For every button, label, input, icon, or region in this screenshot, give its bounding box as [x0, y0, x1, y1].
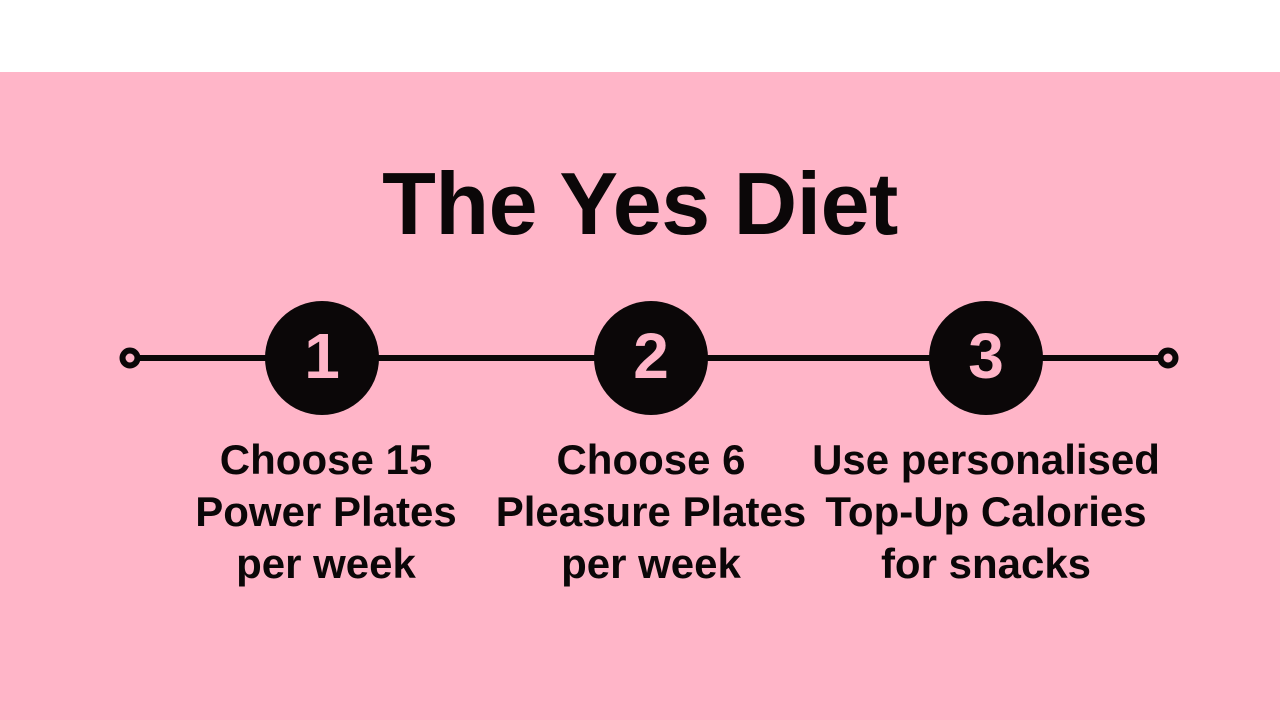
- page-title: The Yes Diet: [0, 160, 1280, 248]
- timeline-node-2[interactable]: 2: [594, 301, 708, 415]
- timeline-caption-2: Choose 6 Pleasure Plates per week: [481, 434, 821, 590]
- timeline-node-number: 3: [968, 324, 1004, 388]
- slide: The Yes Diet 1 2 3 Choose 15 Power Plate…: [0, 0, 1280, 720]
- timeline-node-3[interactable]: 3: [929, 301, 1043, 415]
- timeline-node-number: 1: [304, 324, 340, 388]
- timeline-caption-1: Choose 15 Power Plates per week: [156, 434, 496, 590]
- timeline-node-number: 2: [633, 324, 669, 388]
- timeline-node-1[interactable]: 1: [265, 301, 379, 415]
- slide-canvas: The Yes Diet 1 2 3 Choose 15 Power Plate…: [0, 72, 1280, 720]
- timeline-caption-3: Use personalised Top-Up Calories for sna…: [806, 434, 1166, 590]
- top-white-band: [0, 0, 1280, 72]
- timeline-end-marker-icon: [1161, 351, 1176, 366]
- timeline-start-marker-icon: [123, 351, 138, 366]
